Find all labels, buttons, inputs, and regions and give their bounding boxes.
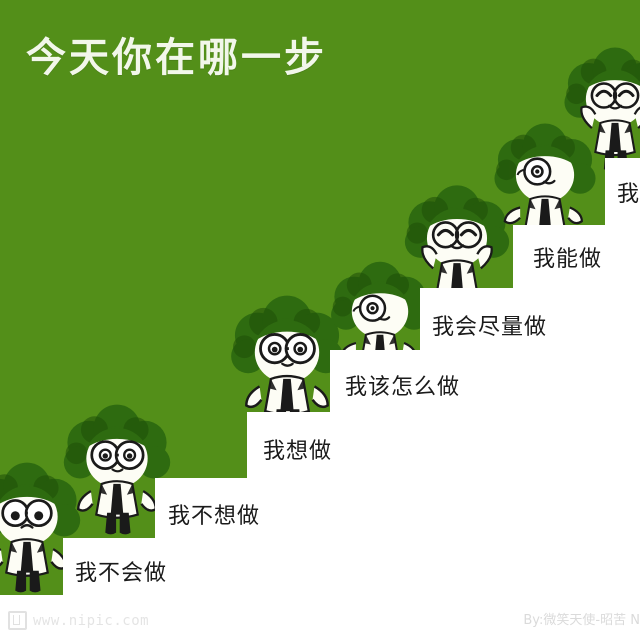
page-title: 今天你在哪一步 bbox=[26, 36, 327, 80]
step-label-7: 我 bbox=[617, 184, 640, 206]
step-label-1: 我不会做 bbox=[75, 563, 167, 585]
step-label-2: 我不想做 bbox=[168, 506, 260, 528]
watermark-left: www.nipic.com bbox=[8, 611, 149, 630]
step-label-4: 我该怎么做 bbox=[345, 377, 460, 399]
watermark-left-text: www.nipic.com bbox=[33, 613, 149, 629]
nipic-logo-icon bbox=[8, 611, 27, 630]
step-label-3: 我想做 bbox=[263, 441, 332, 463]
step-label-6: 我能做 bbox=[533, 249, 602, 271]
meme-image: 我不会做我不想做我想做我该怎么做我会尽量做我能做我 今天你在哪一步 www.ni… bbox=[0, 0, 640, 640]
watermark-right: By:微笑天使-昭苦 N bbox=[523, 609, 640, 628]
step-label-5: 我会尽量做 bbox=[432, 317, 547, 339]
